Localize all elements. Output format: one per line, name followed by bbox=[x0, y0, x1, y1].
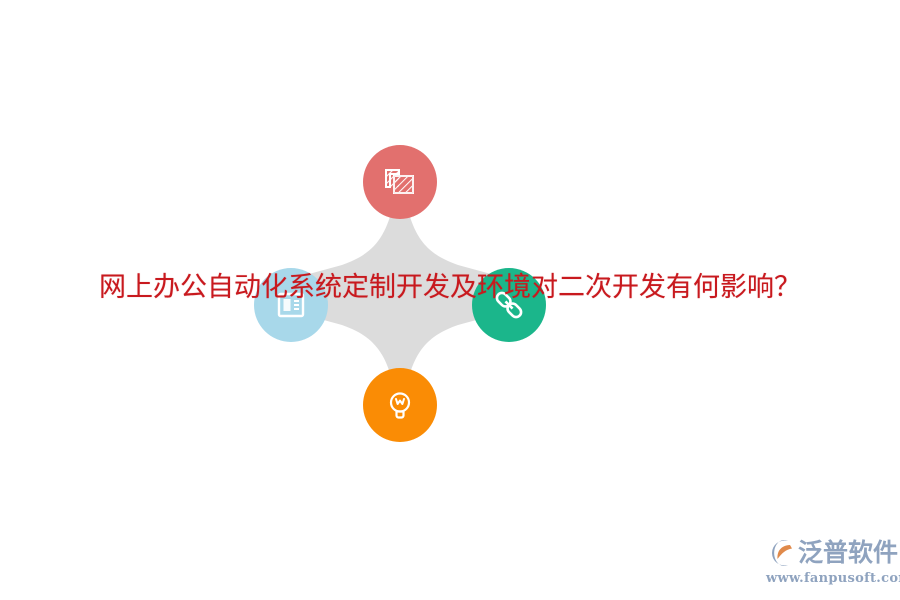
diagram-node-top[interactable] bbox=[363, 145, 437, 219]
page-title: 网上办公自动化系统定制开发及环境对二次开发有何影响？ bbox=[0, 268, 900, 308]
copy-documents-icon bbox=[383, 165, 417, 199]
brand-logo-row: 泛普软件 bbox=[766, 536, 892, 570]
fanpu-c-swoosh-logo-icon bbox=[766, 538, 796, 568]
brand-watermark: 泛普软件 www.fanpusoft.com bbox=[766, 536, 892, 588]
diagram-node-bottom[interactable] bbox=[363, 368, 437, 442]
brand-url: www.fanpusoft.com bbox=[766, 571, 892, 586]
brand-name: 泛普软件 bbox=[798, 538, 898, 568]
lightbulb-idea-icon bbox=[383, 388, 417, 422]
page-canvas: 网上办公自动化系统定制开发及环境对二次开发有何影响？ 泛普软件 www.fanp… bbox=[0, 0, 900, 600]
